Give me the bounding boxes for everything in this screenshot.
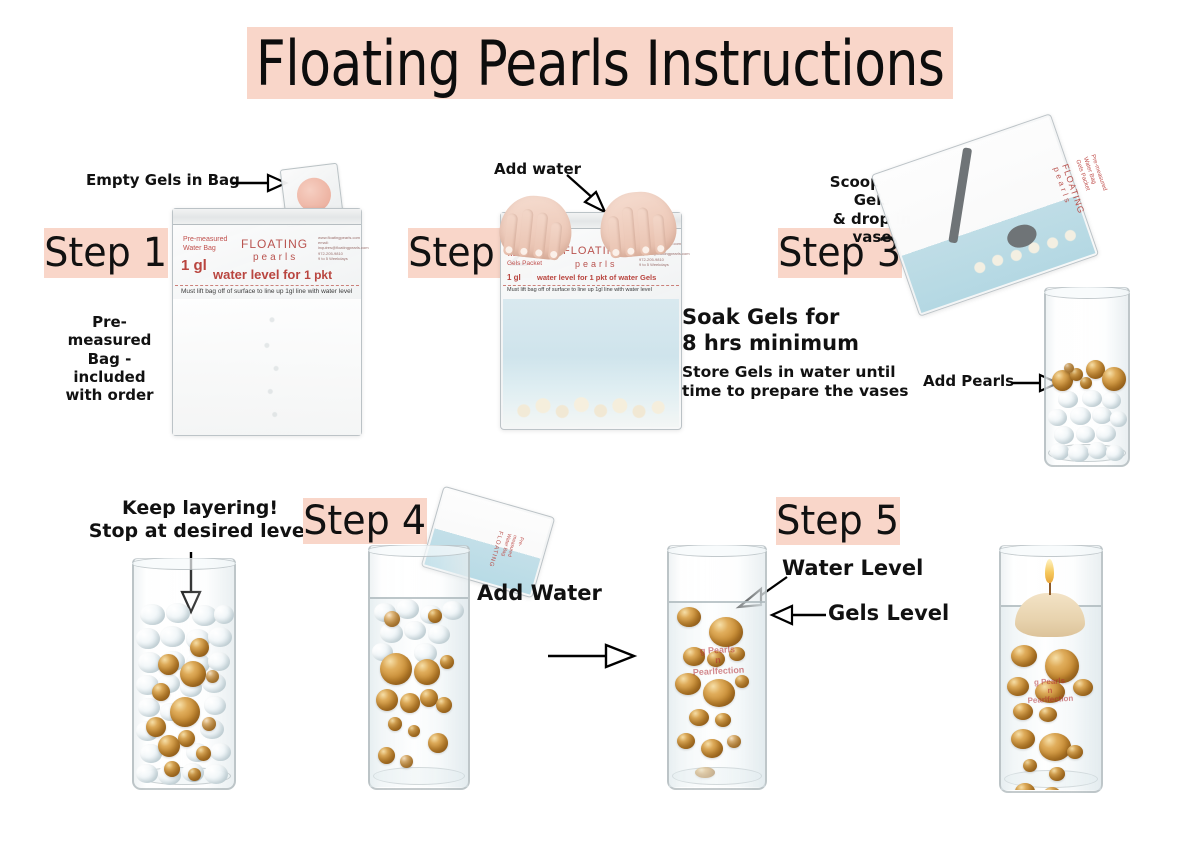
vase3-gel-layer (1046, 386, 1128, 464)
vase4-contents (370, 597, 468, 787)
bag-volume: 1 gl (181, 257, 207, 274)
arrow-step4-to-step5 (548, 640, 638, 672)
bag-brand-bottom: pearls (253, 252, 298, 263)
step-4-chip: Step 4 (303, 498, 427, 544)
instruction-poster: Floating Pearls Instructions Step 1 Empt… (0, 0, 1200, 856)
page-title: Floating Pearls Instructions (247, 27, 953, 99)
bag-brand-top: FLOATING (241, 237, 308, 251)
bag-dot-texture (255, 307, 289, 435)
callout-soak-title: Soak Gels for 8 hrs minimum (682, 305, 859, 356)
bag-pre-measured-label: Pre-measured Water Bag (183, 235, 227, 254)
step-5-chip: Step 5 (776, 497, 900, 545)
callout-empty-gels: Empty Gels in Bag (86, 171, 240, 189)
bag2-fine-print: Must lift bag off of surface to line up … (507, 287, 652, 293)
water-bag-step1: Pre-measured Water Bag FLOATING pearls w… (172, 208, 362, 436)
bag2-brand-bottom: pearls (575, 259, 618, 269)
callout-add-pearls: Add Pearls (923, 372, 1014, 390)
bag2-water-level-text: water level for 1 pkt of water Gels (537, 273, 656, 282)
arrow-add-water-top (565, 172, 611, 216)
step-1-chip: Step 1 (44, 228, 168, 278)
vase-final-pearls: g Pearls n Pearlfection (1001, 641, 1101, 790)
bag2-water-line (503, 285, 679, 286)
vase-step4 (368, 545, 470, 790)
bag-contact-info: www.floatingpearls.com email: inquires@f… (318, 235, 362, 261)
bag-water-line (175, 285, 359, 286)
vase-step5: g Pearls n Pearlfection (667, 545, 767, 790)
arrow-gels-level (768, 604, 828, 626)
callout-water-level: Water Level (782, 556, 923, 582)
callout-pre-measured: Pre-measured Bag - included with order (52, 313, 167, 404)
bag2-volume: 1 gl (507, 273, 521, 282)
callout-gels-level: Gels Level (828, 601, 949, 627)
vase-layering-gels (134, 597, 234, 787)
bag-zip-seal (173, 209, 361, 225)
vase-final-candle: g Pearls n Pearlfection (999, 545, 1103, 793)
vase5-pearls: g Pearls n Pearlfection (669, 601, 765, 787)
bag2-gel-beads (511, 387, 671, 421)
vase-final-watermark: g Pearls n Pearlfection (1016, 675, 1083, 706)
vase3-pearl-layer (1046, 357, 1128, 393)
callout-soak-sub: Store Gels in water until time to prepar… (682, 363, 908, 401)
bag-fine-print: Must lift bag off of surface to line up … (181, 288, 352, 295)
left-hand (497, 192, 575, 261)
bag-water-level-text: water level for 1 pkt (213, 267, 332, 282)
callout-keep-layering: Keep layering! Stop at desired level (75, 497, 325, 543)
vase-step3 (1044, 287, 1130, 467)
page-title-text: Floating Pearls Instructions (256, 27, 945, 100)
callout-add-water-step4: Add Water (477, 581, 602, 607)
vase5-watermark: g Pearls n Pearlfection (686, 643, 750, 677)
vase-layering (132, 558, 236, 790)
candle-flame (1045, 559, 1054, 583)
